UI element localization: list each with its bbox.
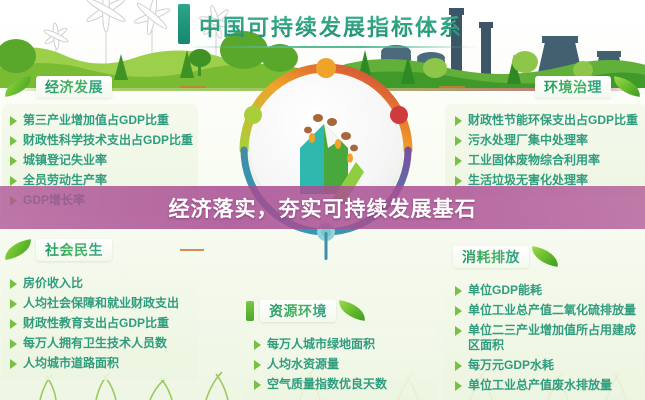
section-emission-title: 消耗排放	[462, 247, 520, 267]
section-economy-header: 经济发展	[2, 74, 198, 100]
leaf-icon	[2, 77, 36, 97]
list-item-label: 房价收入比	[23, 276, 83, 291]
arrow-bullet-icon	[10, 299, 17, 309]
section-environment-list: 财政性节能环保支出占GDP比重 污水处理厂集中处理率 工业固体废物综合利用率 生…	[445, 104, 645, 197]
arrow-bullet-icon	[455, 306, 462, 316]
list-item-label: 空气质量指数优良天数	[267, 377, 387, 392]
section-emission-title-plate: 消耗排放	[453, 246, 529, 268]
list-item[interactable]: 每万人城市绿地面积	[254, 337, 428, 352]
list-item[interactable]: 污水处理厂集中处理率	[455, 133, 637, 148]
arrow-bullet-icon	[10, 319, 17, 329]
section-society-header: 社会民生	[2, 237, 198, 263]
arrow-bullet-icon	[455, 176, 462, 186]
arrow-bullet-icon	[455, 361, 462, 371]
section-economy-title-plate: 经济发展	[36, 76, 112, 98]
arrow-bullet-icon	[10, 136, 17, 146]
leaf-icon	[336, 301, 370, 321]
list-item-label: 每万人城市绿地面积	[267, 337, 375, 352]
list-item-label: 单位二三产业增加值所占用建成区面积	[468, 323, 637, 353]
section-resource-list: 每万人城市绿地面积 人均水资源量 空气质量指数优良天数	[246, 328, 436, 400]
list-item[interactable]: 单位二三产业增加值所占用建成区面积	[455, 323, 637, 353]
leaf-icon	[529, 247, 563, 267]
page-title: 中国可持续发展指标体系	[196, 6, 466, 46]
list-item[interactable]: 空气质量指数优良天数	[254, 377, 428, 392]
section-emission-list: 单位GDP能耗 单位工业总产值二氧化硫排放量 单位二三产业增加值所占用建成区面积…	[445, 274, 645, 400]
leaf-icon	[611, 77, 645, 97]
page-title-text: 中国可持续发展指标体系	[199, 10, 463, 42]
arrow-bullet-icon	[10, 359, 17, 369]
section-accent-bar	[246, 301, 254, 321]
list-item[interactable]: 单位工业总产值废水排放量	[455, 378, 637, 393]
list-item-label: 第三产业增加值占GDP比重	[23, 113, 169, 128]
title-accent-bar	[178, 4, 190, 44]
caption-text: 经济落实，夯实可持续发展基石	[169, 193, 477, 223]
list-item-label: 单位GDP能耗	[468, 283, 542, 298]
section-environment-title-plate: 环境治理	[535, 76, 611, 98]
list-item-label: 人均城市道路面积	[23, 356, 119, 371]
caption-banner: 经济落实，夯实可持续发展基石	[0, 186, 645, 229]
list-item[interactable]: 人均水资源量	[254, 357, 428, 372]
list-item-label: 城镇登记失业率	[23, 153, 107, 168]
arrow-bullet-icon	[10, 279, 17, 289]
section-emission: 消耗排放 单位GDP能耗 单位工业总产值二氧化硫排放量 单位二三产业增加值所占用…	[445, 244, 645, 400]
section-environment: 环境治理 财政性节能环保支出占GDP比重 污水处理厂集中处理率 工业固体废物综合…	[445, 74, 645, 197]
list-item[interactable]: 财政性教育支出占GDP比重	[10, 316, 190, 331]
list-item-label: 单位工业总产值废水排放量	[468, 378, 612, 393]
connector-line	[439, 86, 465, 88]
list-item[interactable]: 工业固体废物综合利用率	[455, 153, 637, 168]
connector-line	[180, 86, 206, 88]
list-item[interactable]: 每万元GDP水耗	[455, 358, 637, 373]
recycling-ring-graphic	[228, 52, 424, 262]
section-resource-header: 资源环境	[246, 298, 436, 324]
section-emission-header: 消耗排放	[445, 244, 645, 270]
list-item[interactable]: 人均社会保障和就业财政支出	[10, 296, 190, 311]
list-item-label: 财政性教育支出占GDP比重	[23, 316, 169, 331]
arrow-bullet-icon	[455, 116, 462, 126]
list-item-label: 财政性科学技术支出占GDP比重	[23, 133, 193, 148]
list-item-label: 污水处理厂集中处理率	[468, 133, 588, 148]
leaf-icon	[2, 240, 36, 260]
list-item[interactable]: 单位工业总产值二氧化硫排放量	[455, 303, 637, 318]
list-item[interactable]: 每万人拥有卫生技术人员数	[10, 336, 190, 351]
list-item[interactable]: 财政性节能环保支出占GDP比重	[455, 113, 637, 128]
arrow-bullet-icon	[254, 340, 261, 350]
list-item[interactable]: 城镇登记失业率	[10, 153, 190, 168]
arrow-bullet-icon	[455, 381, 462, 391]
title-underline	[188, 46, 478, 48]
infographic-canvas: 中国可持续发展指标体系	[0, 0, 645, 400]
list-item-label: 每万人拥有卫生技术人员数	[23, 336, 167, 351]
arrow-bullet-icon	[455, 136, 462, 146]
list-item[interactable]: 第三产业增加值占GDP比重	[10, 113, 190, 128]
list-item[interactable]: 单位GDP能耗	[455, 283, 637, 298]
section-resource-title: 资源环境	[269, 301, 327, 321]
arrow-bullet-icon	[455, 286, 462, 296]
section-resource-title-plate: 资源环境	[260, 300, 336, 322]
section-society-title: 社会民生	[45, 240, 103, 260]
arrow-bullet-icon	[254, 360, 261, 370]
list-item-label: 财政性节能环保支出占GDP比重	[468, 113, 638, 128]
arrow-bullet-icon	[10, 339, 17, 349]
list-item-label: 每万元GDP水耗	[468, 358, 554, 373]
section-society: 社会民生 房价收入比 人均社会保障和就业财政支出 财政性教育支出占GDP比重 每…	[2, 237, 198, 380]
arrow-bullet-icon	[254, 380, 261, 390]
list-item-label: 人均社会保障和就业财政支出	[23, 296, 179, 311]
arrow-bullet-icon	[455, 326, 462, 336]
list-item[interactable]: 财政性科学技术支出占GDP比重	[10, 133, 190, 148]
section-environment-title: 环境治理	[544, 77, 602, 97]
section-resource: 资源环境 每万人城市绿地面积 人均水资源量 空气质量指数优良天数	[246, 298, 436, 400]
arrow-bullet-icon	[455, 156, 462, 166]
arrow-bullet-icon	[10, 176, 17, 186]
arrow-bullet-icon	[10, 156, 17, 166]
section-environment-header: 环境治理	[445, 74, 645, 100]
section-economy-title: 经济发展	[45, 77, 103, 97]
section-society-title-plate: 社会民生	[36, 239, 112, 261]
section-society-list: 房价收入比 人均社会保障和就业财政支出 财政性教育支出占GDP比重 每万人拥有卫…	[2, 267, 198, 380]
list-item-label: 单位工业总产值二氧化硫排放量	[468, 303, 636, 318]
connector-line	[180, 249, 204, 251]
list-item-label: 工业固体废物综合利用率	[468, 153, 600, 168]
list-item[interactable]: 房价收入比	[10, 276, 190, 291]
list-item[interactable]: 人均城市道路面积	[10, 356, 190, 371]
list-item-label: 人均水资源量	[267, 357, 339, 372]
arrow-bullet-icon	[10, 116, 17, 126]
